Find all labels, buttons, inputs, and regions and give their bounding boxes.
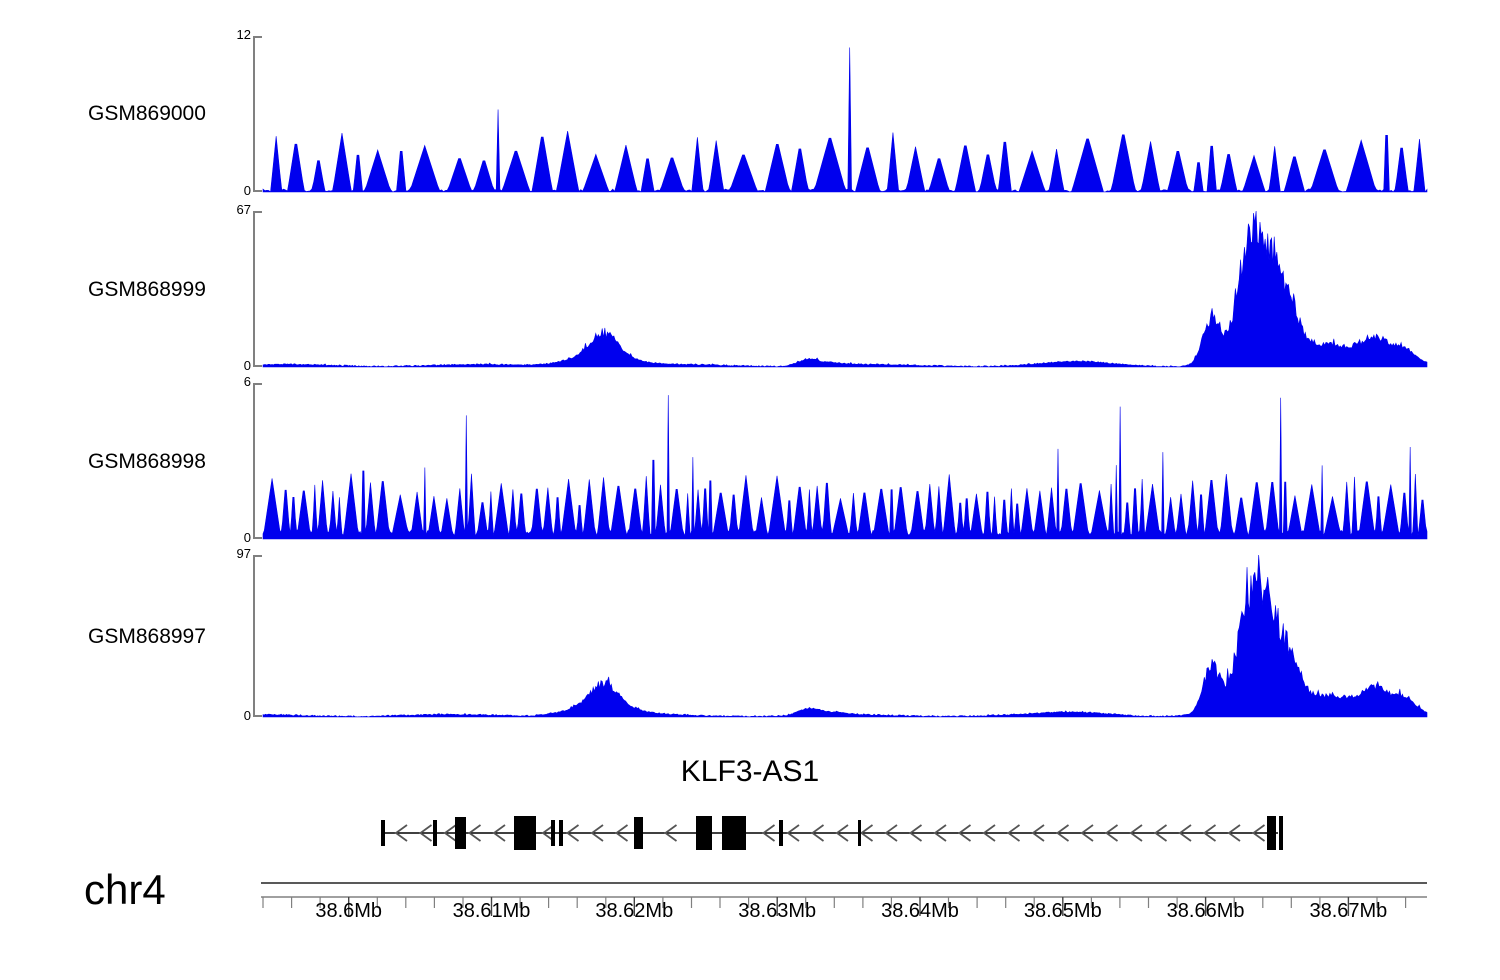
axis-tick-label: 38.64Mb [881,900,959,923]
genome-browser-view: GSM869000120GSM868999670GSM86899860GSM86… [0,0,1500,980]
axis-tick-label: 38.63Mb [738,900,816,923]
coverage-track-gsm868998[interactable]: GSM86899860 [0,377,1500,545]
exon-block[interactable] [455,817,466,849]
plot-area-gsm869000[interactable] [0,30,1500,202]
exon-block[interactable] [381,820,385,846]
coverage-track-gsm868997[interactable]: GSM868997970 [0,549,1500,721]
plot-area-gsm868997[interactable] [0,549,1500,721]
exon-block[interactable] [433,820,437,846]
exon-block[interactable] [551,820,555,846]
exon-block[interactable] [696,816,712,850]
coverage-area-gsm868999 [263,211,1427,367]
exon-block[interactable] [1267,816,1276,850]
axis-tick-label: 38.61Mb [453,900,531,923]
axis-tick-label: 38.6Mb [315,900,382,923]
exon-block[interactable] [514,816,536,850]
exon-block[interactable] [559,820,563,846]
exon-block[interactable] [722,816,746,850]
coverage-area-gsm868997 [263,555,1427,717]
plot-area-gsm868998[interactable] [0,377,1500,545]
coverage-track-gsm869000[interactable]: GSM869000120 [0,30,1500,202]
exon-block[interactable] [1279,816,1283,850]
genomic-axis[interactable]: 38.6Mb38.61Mb38.62Mb38.63Mb38.64Mb38.65M… [0,870,1500,980]
axis-tick-label: 38.67Mb [1309,900,1387,923]
exon-block[interactable] [779,820,783,846]
gene-name-label: KLF3-AS1 [0,755,1500,789]
coverage-area-gsm869000 [263,48,1427,192]
exon-block[interactable] [634,817,643,849]
axis-tick-label: 38.66Mb [1167,900,1245,923]
plot-area-gsm868999[interactable] [0,205,1500,373]
exon-block[interactable] [858,820,861,846]
coverage-track-gsm868999[interactable]: GSM868999670 [0,205,1500,373]
gene-model-panel: KLF3-AS1 [0,755,1500,865]
axis-tick-label: 38.62Mb [595,900,673,923]
coverage-area-gsm868998 [263,395,1427,539]
axis-tick-label: 38.65Mb [1024,900,1102,923]
